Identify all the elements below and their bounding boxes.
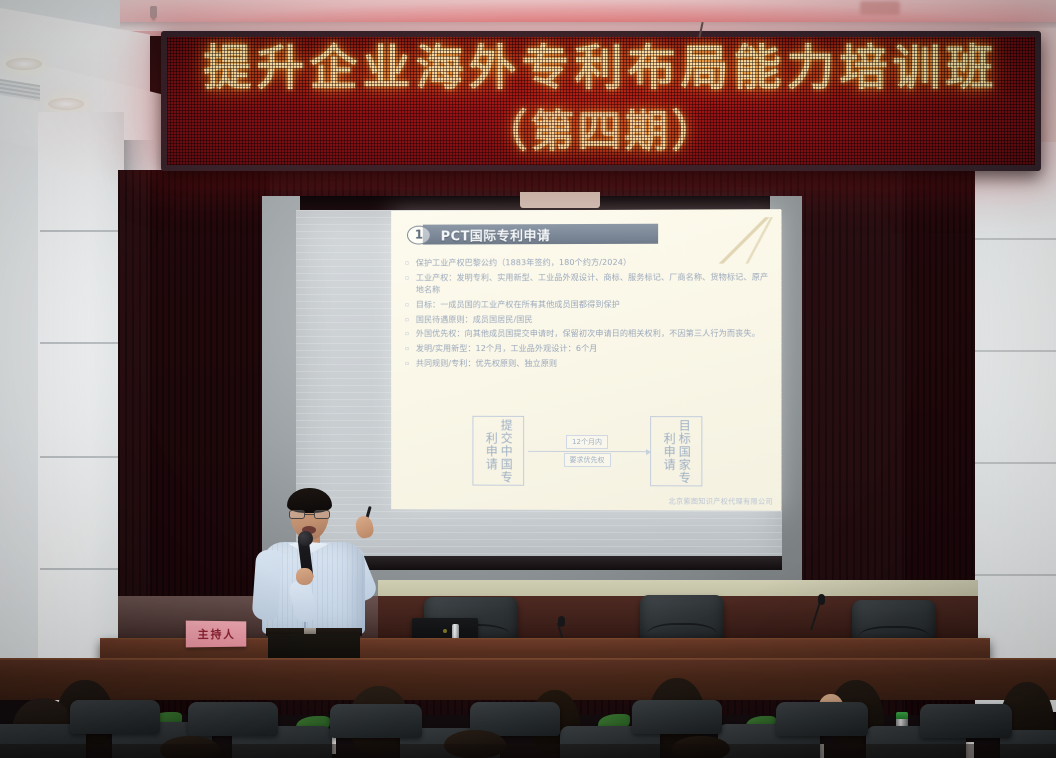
slide-bullet: ▫ 发明/实用新型：12个月，工业品外观设计：6个月	[405, 343, 771, 355]
bullet-text: 共同规则/专利：优先权原则、独立原则	[416, 358, 771, 370]
slide-bullet-list: ▫ 保护工业产权巴黎公约（1883年签约，180个约方/2024） ▫ 工业产权…	[405, 256, 771, 373]
slide-title: PCT国际专利申请	[441, 225, 551, 244]
diagram-box-left: 提交中国专利申请	[472, 416, 524, 486]
ceiling-patch	[860, 1, 900, 15]
sprinkler-head-icon	[150, 6, 157, 18]
bullet-text: 外国优先权：向其他成员国提交申请时，保留初次申请日的相关权利，不因第三人行为而丧…	[416, 328, 771, 340]
audience-seat	[920, 704, 1012, 738]
bottle-cap-icon	[896, 712, 908, 719]
slide-bullet: ▫ 保护工业产权巴黎公约（1883年签约，180个约方/2024）	[405, 256, 771, 269]
diagram-arrow-icon	[528, 451, 650, 452]
slide-title-bar: PCT国际专利申请	[423, 224, 658, 245]
slide-bullet: ▫ 工业产权：发明专利、实用新型、工业品外观设计、商标、服务标记、厂商名称、货物…	[405, 271, 771, 295]
bullet-text: 保护工业产权巴黎公约（1883年签约，180个约方/2024）	[416, 256, 771, 269]
bullet-text: 目标：一成员国的工业产权在所有其他成员国都得到保护	[416, 298, 771, 310]
bullet-marker-icon: ▫	[405, 314, 416, 325]
glasses-bridge	[305, 514, 314, 516]
audience-seat	[330, 704, 422, 738]
diagram-middle: 12个月内 要求优先权	[524, 435, 650, 467]
led-banner-subtitle: （第四期）	[484, 95, 719, 159]
diagram-label-bottom: 要求优先权	[564, 453, 611, 467]
slide-bullet: ▫ 外国优先权：向其他成员国提交申请时，保留初次申请日的相关权利，不因第三人行为…	[405, 328, 771, 340]
bullet-text: 发明/实用新型：12个月，工业品外观设计：6个月	[416, 343, 771, 355]
bullet-marker-icon: ▫	[405, 299, 416, 310]
host-nameplate: 主持人	[186, 621, 246, 648]
slide-watermark: 北京紫图知识产权代理有限公司	[669, 496, 773, 506]
bullet-marker-icon: ▫	[405, 358, 416, 369]
slide-title-row: 1 PCT国际专利申请	[407, 224, 658, 245]
screen-roller-tab	[520, 192, 600, 208]
presenter-left-arm	[252, 549, 283, 621]
audience-seat	[776, 702, 868, 736]
presenter	[246, 480, 396, 660]
audience-seat	[188, 702, 278, 736]
slide-bullet: ▫ 国民待遇原则：成员国居民/国民	[405, 313, 771, 325]
projected-slide: 1 PCT国际专利申请 ▫ 保护工业产权巴黎公约（1883年签约，180个约方/…	[391, 209, 781, 511]
diagram-label-top: 12个月内	[566, 435, 608, 449]
slide-flow-diagram: 提交中国专利申请 12个月内 要求优先权 目标国家专利申请	[472, 412, 702, 491]
presenter-glasses-icon	[289, 510, 330, 520]
desk-microphone-head-icon	[818, 594, 825, 605]
bullet-text: 工业产权：发明专利、实用新型、工业品外观设计、商标、服务标记、厂商名称、货物标记…	[416, 271, 771, 295]
presenter-right-hand	[354, 514, 375, 539]
ceiling-trim-strip	[108, 22, 1056, 31]
glasses-lens-left	[289, 510, 305, 519]
bullet-marker-icon: ▫	[405, 329, 416, 340]
glasses-lens-right	[314, 510, 330, 519]
diagram-box-right: 目标国家专利申请	[650, 416, 702, 486]
presenter-left-hand	[296, 568, 313, 585]
audience-foreground-shadow	[0, 744, 1056, 758]
host-nameplate-label: 主持人	[198, 626, 236, 642]
slide-bullet: ▫ 共同规则/专利：优先权原则、独立原则	[405, 358, 771, 370]
bullet-marker-icon: ▫	[405, 343, 416, 354]
left-pillar	[38, 112, 124, 712]
lecture-hall-photo: 提升企业海外专利布局能力培训班 （第四期） 1 PCT国际专利申请 ▫ 保护工业…	[0, 0, 1056, 758]
bullet-text: 国民待遇原则：成员国居民/国民	[416, 313, 771, 325]
bullet-marker-icon: ▫	[405, 272, 416, 283]
audience-desk	[0, 660, 1056, 700]
bullet-marker-icon: ▫	[405, 258, 416, 269]
downlight-icon	[6, 58, 42, 70]
slide-number-badge: 1	[407, 225, 431, 244]
led-banner: 提升企业海外专利布局能力培训班 （第四期）	[161, 31, 1041, 171]
laptop-logo-icon	[443, 629, 447, 633]
downlight-icon	[48, 98, 84, 110]
led-banner-title: 提升企业海外专利布局能力培训班	[203, 43, 998, 93]
led-banner-text: 提升企业海外专利布局能力培训班 （第四期）	[167, 37, 1035, 165]
audience-seat	[632, 700, 722, 734]
desk-microphone-head-icon	[558, 616, 565, 627]
slide-bullet: ▫ 目标：一成员国的工业产权在所有其他成员国都得到保护	[405, 298, 771, 310]
audience-seat	[70, 700, 160, 734]
